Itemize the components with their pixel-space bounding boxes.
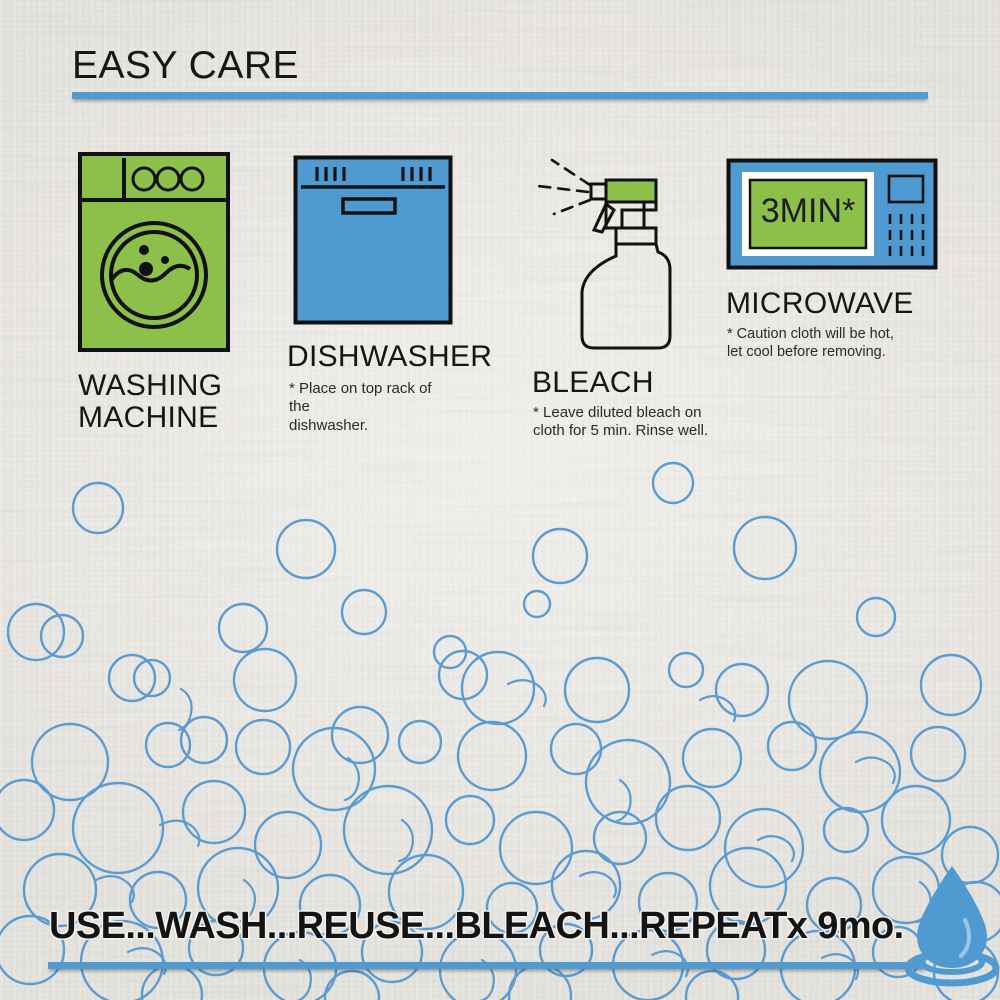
care-step-microwave: 3MIN* MICROWAVE * Caution cloth will be … (726, 158, 938, 275)
care-step-bleach: BLEACH * Leave diluted bleach on cloth f… (532, 152, 732, 357)
care-step-dishwasher: DISHWASHER * Place on top rack of the di… (293, 155, 453, 330)
footer-tagline: USE...WASH...REUSE...BLEACH...REPEATx 9m… (49, 905, 904, 948)
care-step-label: WASHING MACHINE (78, 370, 222, 434)
spray-bottle-icon (532, 152, 732, 352)
soap-bubbles-pattern (0, 0, 1000, 1000)
water-droplet-icon (905, 862, 1000, 992)
care-step-label: DISHWASHER (287, 341, 492, 373)
page-title: EASY CARE (72, 44, 299, 88)
care-step-washing-machine: WASHING MACHINE (78, 152, 230, 357)
dishwasher-icon (293, 155, 453, 325)
care-step-caption: * Caution cloth will be hot, let cool be… (727, 326, 894, 361)
care-step-caption: * Place on top rack of the dishwasher. (289, 380, 453, 435)
footer-divider-rule (48, 962, 926, 969)
microwave-icon: 3MIN* (726, 158, 938, 270)
care-step-caption: * Leave diluted bleach on cloth for 5 mi… (533, 404, 708, 441)
care-step-label: BLEACH (532, 367, 654, 399)
care-step-label: MICROWAVE (726, 288, 914, 320)
header-divider-rule (72, 92, 928, 99)
microwave-display-text: 3MIN* (761, 192, 855, 230)
washing-machine-icon (78, 152, 230, 352)
